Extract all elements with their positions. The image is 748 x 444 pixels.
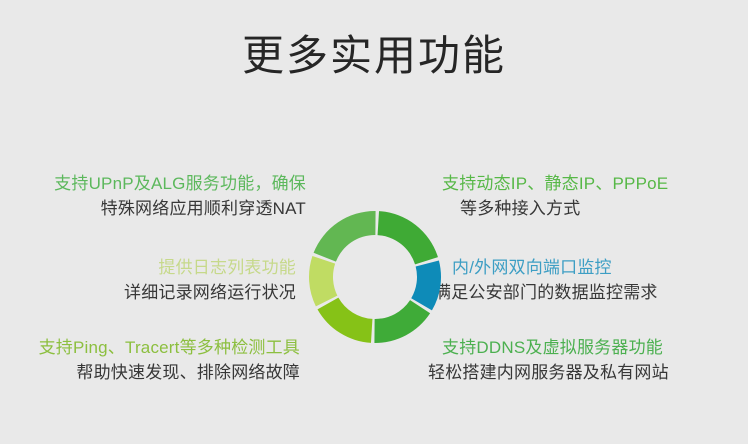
donut-segment <box>317 298 372 343</box>
feature-wan-access-heading: 支持动态IP、静态IP、PPPoE <box>442 172 742 196</box>
donut-segment <box>309 256 337 306</box>
feature-port-monitor-subtext: 满足公安部门的数据监控需求 <box>434 280 742 305</box>
feature-log-list: 提供日志列表功能 详细记录网络运行状况 <box>6 256 296 305</box>
feature-ddns-virtual-server-subtext: 轻松搭建内网服务器及私有网站 <box>428 360 728 385</box>
feature-wan-access: 支持动态IP、静态IP、PPPoE 等多种接入方式 <box>442 172 742 221</box>
feature-port-monitor-heading: 内/外网双向端口监控 <box>452 256 742 280</box>
feature-upnp-subtext: 特殊网络应用顺利穿透NAT <box>6 196 306 221</box>
page-title: 更多实用功能 <box>0 30 748 82</box>
feature-diagnostics-subtext: 帮助快速发现、排除网络故障 <box>0 360 300 385</box>
donut-segment <box>378 211 438 264</box>
feature-wan-access-subtext: 等多种接入方式 <box>442 196 742 221</box>
donut-segment-group <box>309 211 441 343</box>
donut-segment <box>314 211 376 262</box>
donut-chart <box>306 208 444 346</box>
feature-log-list-heading: 提供日志列表功能 <box>6 256 296 280</box>
feature-ddns-virtual-server: 支持DDNS及虚拟服务器功能 轻松搭建内网服务器及私有网站 <box>428 336 728 385</box>
feature-port-monitor: 内/外网双向端口监控 满足公安部门的数据监控需求 <box>452 256 742 305</box>
feature-ddns-virtual-server-heading: 支持DDNS及虚拟服务器功能 <box>428 336 728 360</box>
donut-segment <box>411 260 441 310</box>
feature-diagnostics-heading: 支持Ping、Tracert等多种检测工具 <box>0 336 300 360</box>
slide-canvas: 更多实用功能 支持UPnP及ALG服务功能，确保 特殊网络应用顺利穿透NAT 支… <box>0 0 748 444</box>
donut-segment <box>374 300 430 343</box>
feature-upnp: 支持UPnP及ALG服务功能，确保 特殊网络应用顺利穿透NAT <box>6 172 306 221</box>
feature-log-list-subtext: 详细记录网络运行状况 <box>6 280 296 305</box>
donut-chart-svg <box>306 208 444 346</box>
feature-upnp-heading: 支持UPnP及ALG服务功能，确保 <box>6 172 306 196</box>
feature-diagnostics: 支持Ping、Tracert等多种检测工具 帮助快速发现、排除网络故障 <box>0 336 300 385</box>
